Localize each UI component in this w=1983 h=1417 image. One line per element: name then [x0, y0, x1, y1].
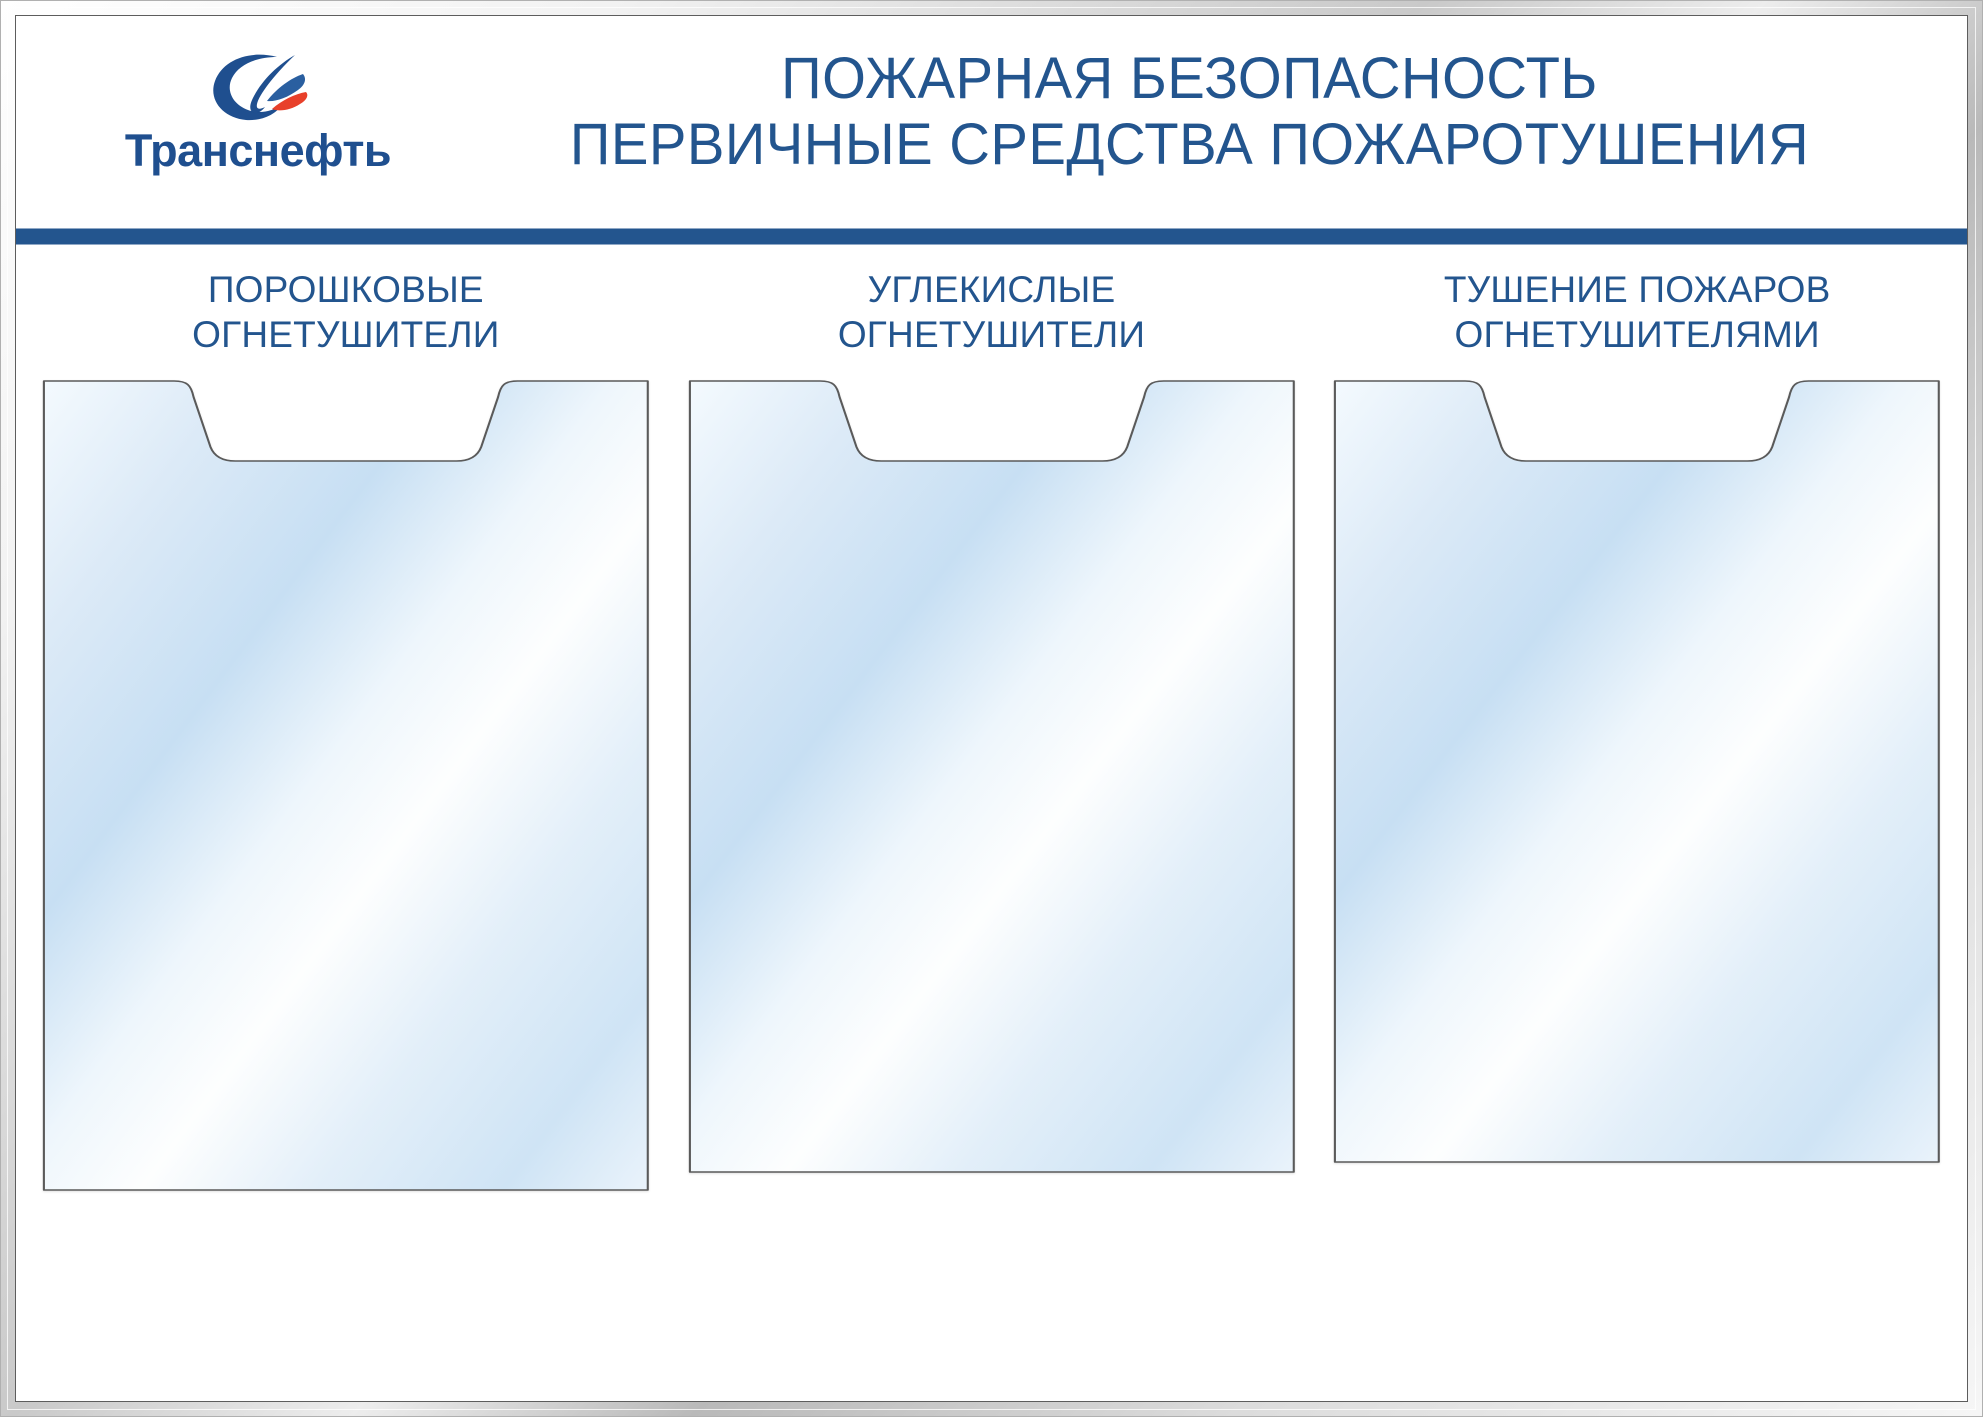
title-line-2: ПЕРВИЧНЫЕ СРЕДСТВА ПОЖАРОТУШЕНИЯ — [459, 112, 1921, 178]
column-title-1: ПОРОШКОВЫЕ ОГНЕТУШИТЕЛИ — [192, 267, 499, 367]
column-co2-extinguishers: УГЛЕКИСЛЫЕ ОГНЕТУШИТЕЛИ — [686, 267, 1298, 1193]
a4-document-pocket-1[interactable] — [40, 375, 652, 1193]
column-powder-extinguishers: ПОРОШКОВЫЕ ОГНЕТУШИТЕЛИ — [40, 267, 652, 1193]
page-title: ПОЖАРНАЯ БЕЗОПАСНОСТЬ ПЕРВИЧНЫЕ СРЕДСТВА… — [436, 46, 1943, 178]
header-divider — [16, 228, 1967, 245]
pocket-acrylic-sheet-3 — [1331, 375, 1943, 1165]
title-line-1: ПОЖАРНАЯ БЕЗОПАСНОСТЬ — [459, 46, 1921, 112]
logo-wordmark: Транснефть — [125, 128, 391, 173]
company-logo: Транснефть — [108, 52, 408, 192]
transneft-swan-logo-icon — [199, 52, 317, 124]
pocket-acrylic-sheet-1 — [40, 375, 652, 1193]
column-fire-fighting-with-extinguishers: ТУШЕНИЕ ПОЖАРОВ ОГНЕТУШИТЕЛЯМИ — [1331, 267, 1943, 1193]
pocket-columns: ПОРОШКОВЫЕ ОГНЕТУШИТЕЛИ — [40, 267, 1943, 1193]
pocket-acrylic-sheet-2 — [686, 375, 1298, 1175]
column-title-3: ТУШЕНИЕ ПОЖАРОВ ОГНЕТУШИТЕЛЯМИ — [1444, 267, 1831, 367]
a4-document-pocket-3[interactable] — [1331, 375, 1943, 1165]
board-outer-frame: Транснефть ПОЖАРНАЯ БЕЗОПАСНОСТЬ ПЕРВИЧН… — [0, 0, 1983, 1417]
board-inner-panel: Транснефть ПОЖАРНАЯ БЕЗОПАСНОСТЬ ПЕРВИЧН… — [15, 15, 1968, 1402]
board-body: ПОРОШКОВЫЕ ОГНЕТУШИТЕЛИ — [16, 245, 1967, 1402]
board-header: Транснефть ПОЖАРНАЯ БЕЗОПАСНОСТЬ ПЕРВИЧН… — [16, 16, 1967, 228]
column-title-2: УГЛЕКИСЛЫЕ ОГНЕТУШИТЕЛИ — [838, 267, 1145, 367]
a4-document-pocket-2[interactable] — [686, 375, 1298, 1175]
